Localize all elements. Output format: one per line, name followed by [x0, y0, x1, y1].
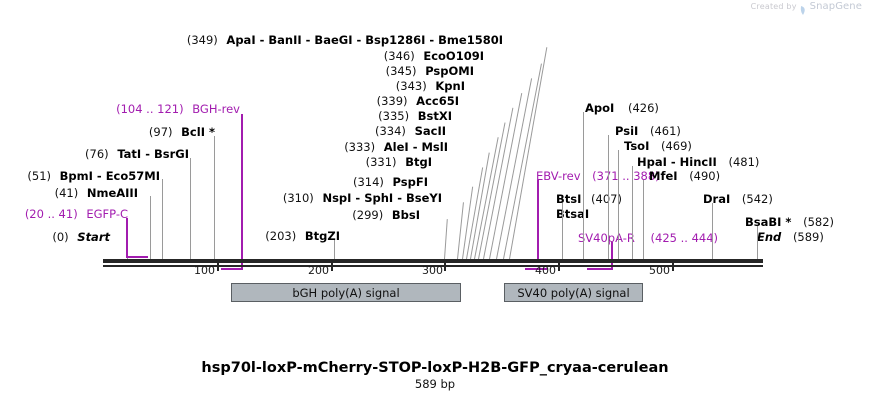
site-label-btsi[interactable]: BtsI (407) [556, 192, 622, 206]
leader-line [509, 47, 547, 259]
primer-bar-egfp-c [126, 256, 148, 258]
leader-line [444, 219, 448, 259]
axis-tick [672, 263, 674, 271]
site-label-tati[interactable]: (76) TatI - BsrGI [85, 147, 189, 161]
axis-tick [217, 263, 219, 271]
site-label-drai[interactable]: DraI (542) [703, 192, 773, 206]
leader-line [583, 112, 584, 259]
sequence-length-label: 589 bp [0, 377, 870, 391]
primer-label-sv40pa-r[interactable]: SV40pA-R (425 .. 444) [578, 231, 718, 245]
site-label-hpai[interactable]: HpaI - HincII (481) [637, 155, 759, 169]
leader-line [190, 158, 191, 259]
primer-label-egfp-c[interactable]: (20 .. 41) EGFP-C [25, 207, 128, 221]
leader-line [162, 179, 163, 259]
site-label-sacii[interactable]: (334) SacII [375, 124, 446, 138]
site-label-end[interactable]: End (589) [757, 230, 824, 244]
watermark-brand: SnapGene [810, 1, 862, 12]
primer-label-bgh-rev[interactable]: (104 .. 121) BGH-rev [116, 102, 240, 116]
site-label-nmeaiii[interactable]: (41) NmeAIII [55, 186, 138, 200]
site-label-tsoi[interactable]: TsoI (469) [624, 139, 692, 153]
snapgene-watermark: Created by SnapGene [751, 1, 862, 12]
leader-line [562, 203, 563, 259]
site-label-pspomi[interactable]: (345) PspOMI [386, 64, 474, 78]
axis-tick [331, 263, 333, 271]
site-label-nspi[interactable]: (310) NspI - SphI - BseYI [283, 191, 442, 205]
axis-tick [558, 263, 560, 271]
site-label-btsai[interactable]: BtsaI [556, 207, 589, 221]
feature-sv40-polya-signal[interactable]: SV40 poly(A) signal [504, 283, 643, 302]
axis-tick-label-100: 100 [194, 264, 215, 277]
feature-bgh-polya-signal[interactable]: bGH poly(A) signal [231, 283, 461, 302]
primer-leader-egfp-c [126, 218, 128, 258]
site-label-kpni[interactable]: (343) KpnI [396, 79, 465, 93]
leader-line [632, 166, 633, 259]
leader-line [214, 136, 215, 259]
primer-bar-bgh-rev [221, 268, 242, 270]
site-label-acc65i[interactable]: (339) Acc65I [377, 94, 459, 108]
leader-line [712, 203, 713, 259]
sequence-backbone[interactable] [103, 259, 763, 263]
leader-line [150, 196, 151, 259]
plasmid-map: Created by SnapGene (0) Start (20 .. 41)… [0, 0, 870, 400]
leader-line [643, 180, 644, 259]
snapgene-logo-icon [800, 1, 807, 12]
watermark-created-by: Created by [751, 2, 797, 11]
page-title: hsp70l-loxP-mCherry-STOP-loxP-H2B-GFP_cr… [0, 360, 870, 376]
leader-line [608, 135, 609, 259]
site-label-ecoo109i[interactable]: (346) EcoO109I [384, 49, 484, 63]
site-label-bbsi[interactable]: (299) BbsI [352, 208, 420, 222]
axis-tick-label-200: 200 [308, 264, 329, 277]
leader-line [334, 240, 335, 259]
axis-tick [444, 263, 446, 271]
primer-leader-bgh-rev [241, 114, 243, 270]
leader-line [757, 226, 758, 259]
site-label-bsabi[interactable]: BsaBI * (582) [745, 215, 834, 229]
site-label-bstxi[interactable]: (335) BstXI [378, 109, 452, 123]
primer-label-ebv-rev[interactable]: EBV-rev (371 .. 388) [536, 169, 660, 183]
site-label-bcli[interactable]: (97) BclI * [149, 125, 215, 139]
site-label-psii[interactable]: PsiI (461) [615, 124, 681, 138]
axis-tick-label-400: 400 [535, 264, 556, 277]
site-label-bpmi[interactable]: (51) BpmI - Eco57MI [27, 169, 160, 183]
site-label-btgi[interactable]: (331) BtgI [366, 155, 432, 169]
primer-leader-ebv-rev [537, 180, 539, 259]
axis-tick-label-500: 500 [649, 264, 670, 277]
site-label-btgzi[interactable]: (203) BtgZI [265, 229, 340, 243]
site-label-pspfi[interactable]: (314) PspFI [353, 175, 428, 189]
site-label-apai[interactable]: (349) ApaI - BanII - BaeGI - Bsp1286I - … [187, 33, 503, 47]
axis-tick-label-300: 300 [422, 264, 443, 277]
site-label-apoi[interactable]: ApoI (426) [585, 101, 659, 115]
site-label-start[interactable]: (0) Start [52, 230, 110, 244]
primer-bar-sv40pa-r [587, 268, 611, 270]
leader-line [618, 150, 619, 259]
site-label-mfei[interactable]: MfeI (490) [649, 169, 720, 183]
site-label-alei[interactable]: (333) AleI - MslI [344, 140, 448, 154]
